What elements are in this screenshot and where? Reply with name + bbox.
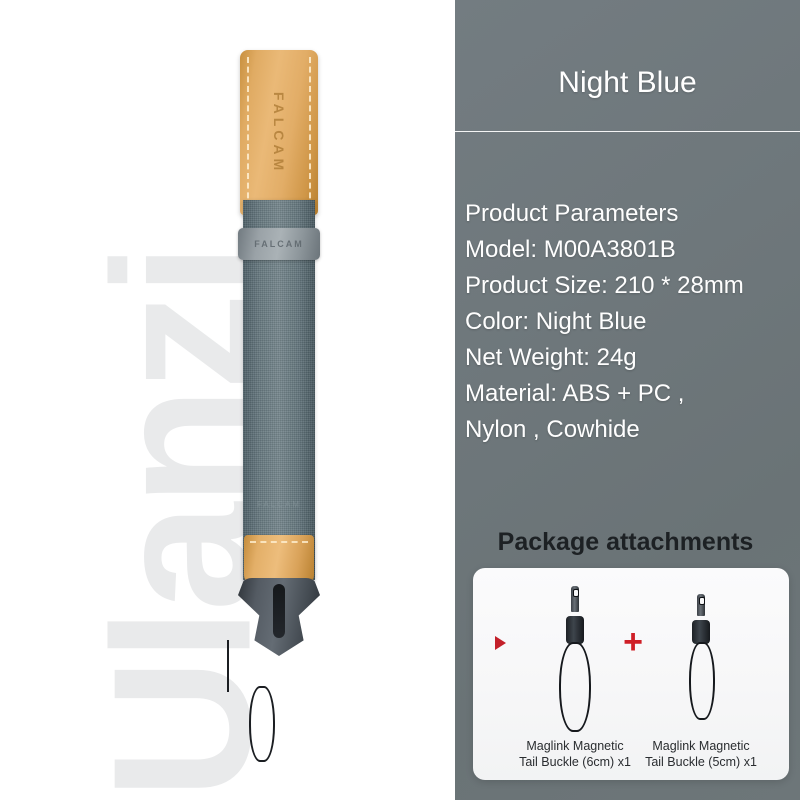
tail-buckle-5cm-illustration	[641, 586, 761, 734]
attachment-qty: x1	[744, 755, 757, 769]
triangle-marker-icon	[495, 636, 506, 650]
buckle-cord-loop-icon	[559, 642, 591, 732]
attachment-item: Maglink Magnetic Tail Buckle (6cm) x1	[515, 586, 635, 734]
strap-keeper: FALCAM	[238, 228, 320, 260]
attachment-item: Maglink Magnetic Tail Buckle (5cm) x1	[641, 586, 761, 734]
attachment-name: Tail Buckle (5cm)	[645, 755, 740, 769]
spec-line-material-cont: Nylon , Cowhide	[465, 412, 796, 448]
cord-stem	[227, 640, 229, 692]
falcam-logo-keeper: FALCAM	[254, 239, 304, 249]
buckle-barrel-icon	[692, 620, 710, 644]
webbing-brand-mark: FALCAM	[250, 500, 308, 512]
attachment-caption-line1: Maglink Magnetic	[515, 738, 635, 754]
spec-line-size: Product Size: 210 * 28mm	[465, 268, 796, 304]
package-attachments-card: + Maglink Magnetic Tail Buckle (6cm) x1	[473, 568, 789, 780]
leather-tab: FALCAM	[240, 50, 318, 215]
falcam-logo-tab: FALCAM	[271, 91, 287, 173]
spec-line-weight: Net Weight: 24g	[465, 340, 796, 376]
product-parameters-list: Product Parameters Model: M00A3801B Prod…	[465, 196, 796, 448]
tail-buckle-6cm-illustration	[515, 586, 635, 734]
attachment-caption-line1: Maglink Magnetic	[641, 738, 761, 754]
buckle-pin-icon	[697, 594, 705, 616]
package-attachments-title: Package attachments	[455, 527, 796, 557]
spec-line-model: Model: M00A3801B	[465, 232, 796, 268]
buckle-slot	[273, 584, 285, 638]
attachment-name: Tail Buckle (6cm)	[519, 755, 614, 769]
spec-line-heading: Product Parameters	[465, 196, 796, 232]
buckle-pin-icon	[571, 586, 579, 612]
spec-line-color: Color: Night Blue	[465, 304, 796, 340]
buckle-barrel-icon	[566, 616, 584, 644]
cord-loop	[249, 686, 275, 762]
wrist-strap-product: FALCAM FALCAM FALCAM	[0, 0, 455, 800]
attachment-caption-line2: Tail Buckle (6cm) x1	[515, 754, 635, 770]
attachment-caption-line2: Tail Buckle (5cm) x1	[641, 754, 761, 770]
product-image: Ulanzi FALCAM FALCAM FALCAM Night Blue P	[0, 0, 800, 800]
quick-release-buckle	[238, 578, 320, 666]
color-name-title: Night Blue	[455, 66, 800, 100]
product-photo-area: Ulanzi FALCAM FALCAM FALCAM	[0, 0, 455, 800]
attachment-qty: x1	[618, 755, 631, 769]
buckle-cord-loop-icon	[689, 642, 715, 720]
title-divider	[455, 131, 800, 132]
spec-line-material: Material: ABS + PC ,	[465, 376, 796, 412]
info-panel: Night Blue Product Parameters Model: M00…	[455, 0, 800, 800]
